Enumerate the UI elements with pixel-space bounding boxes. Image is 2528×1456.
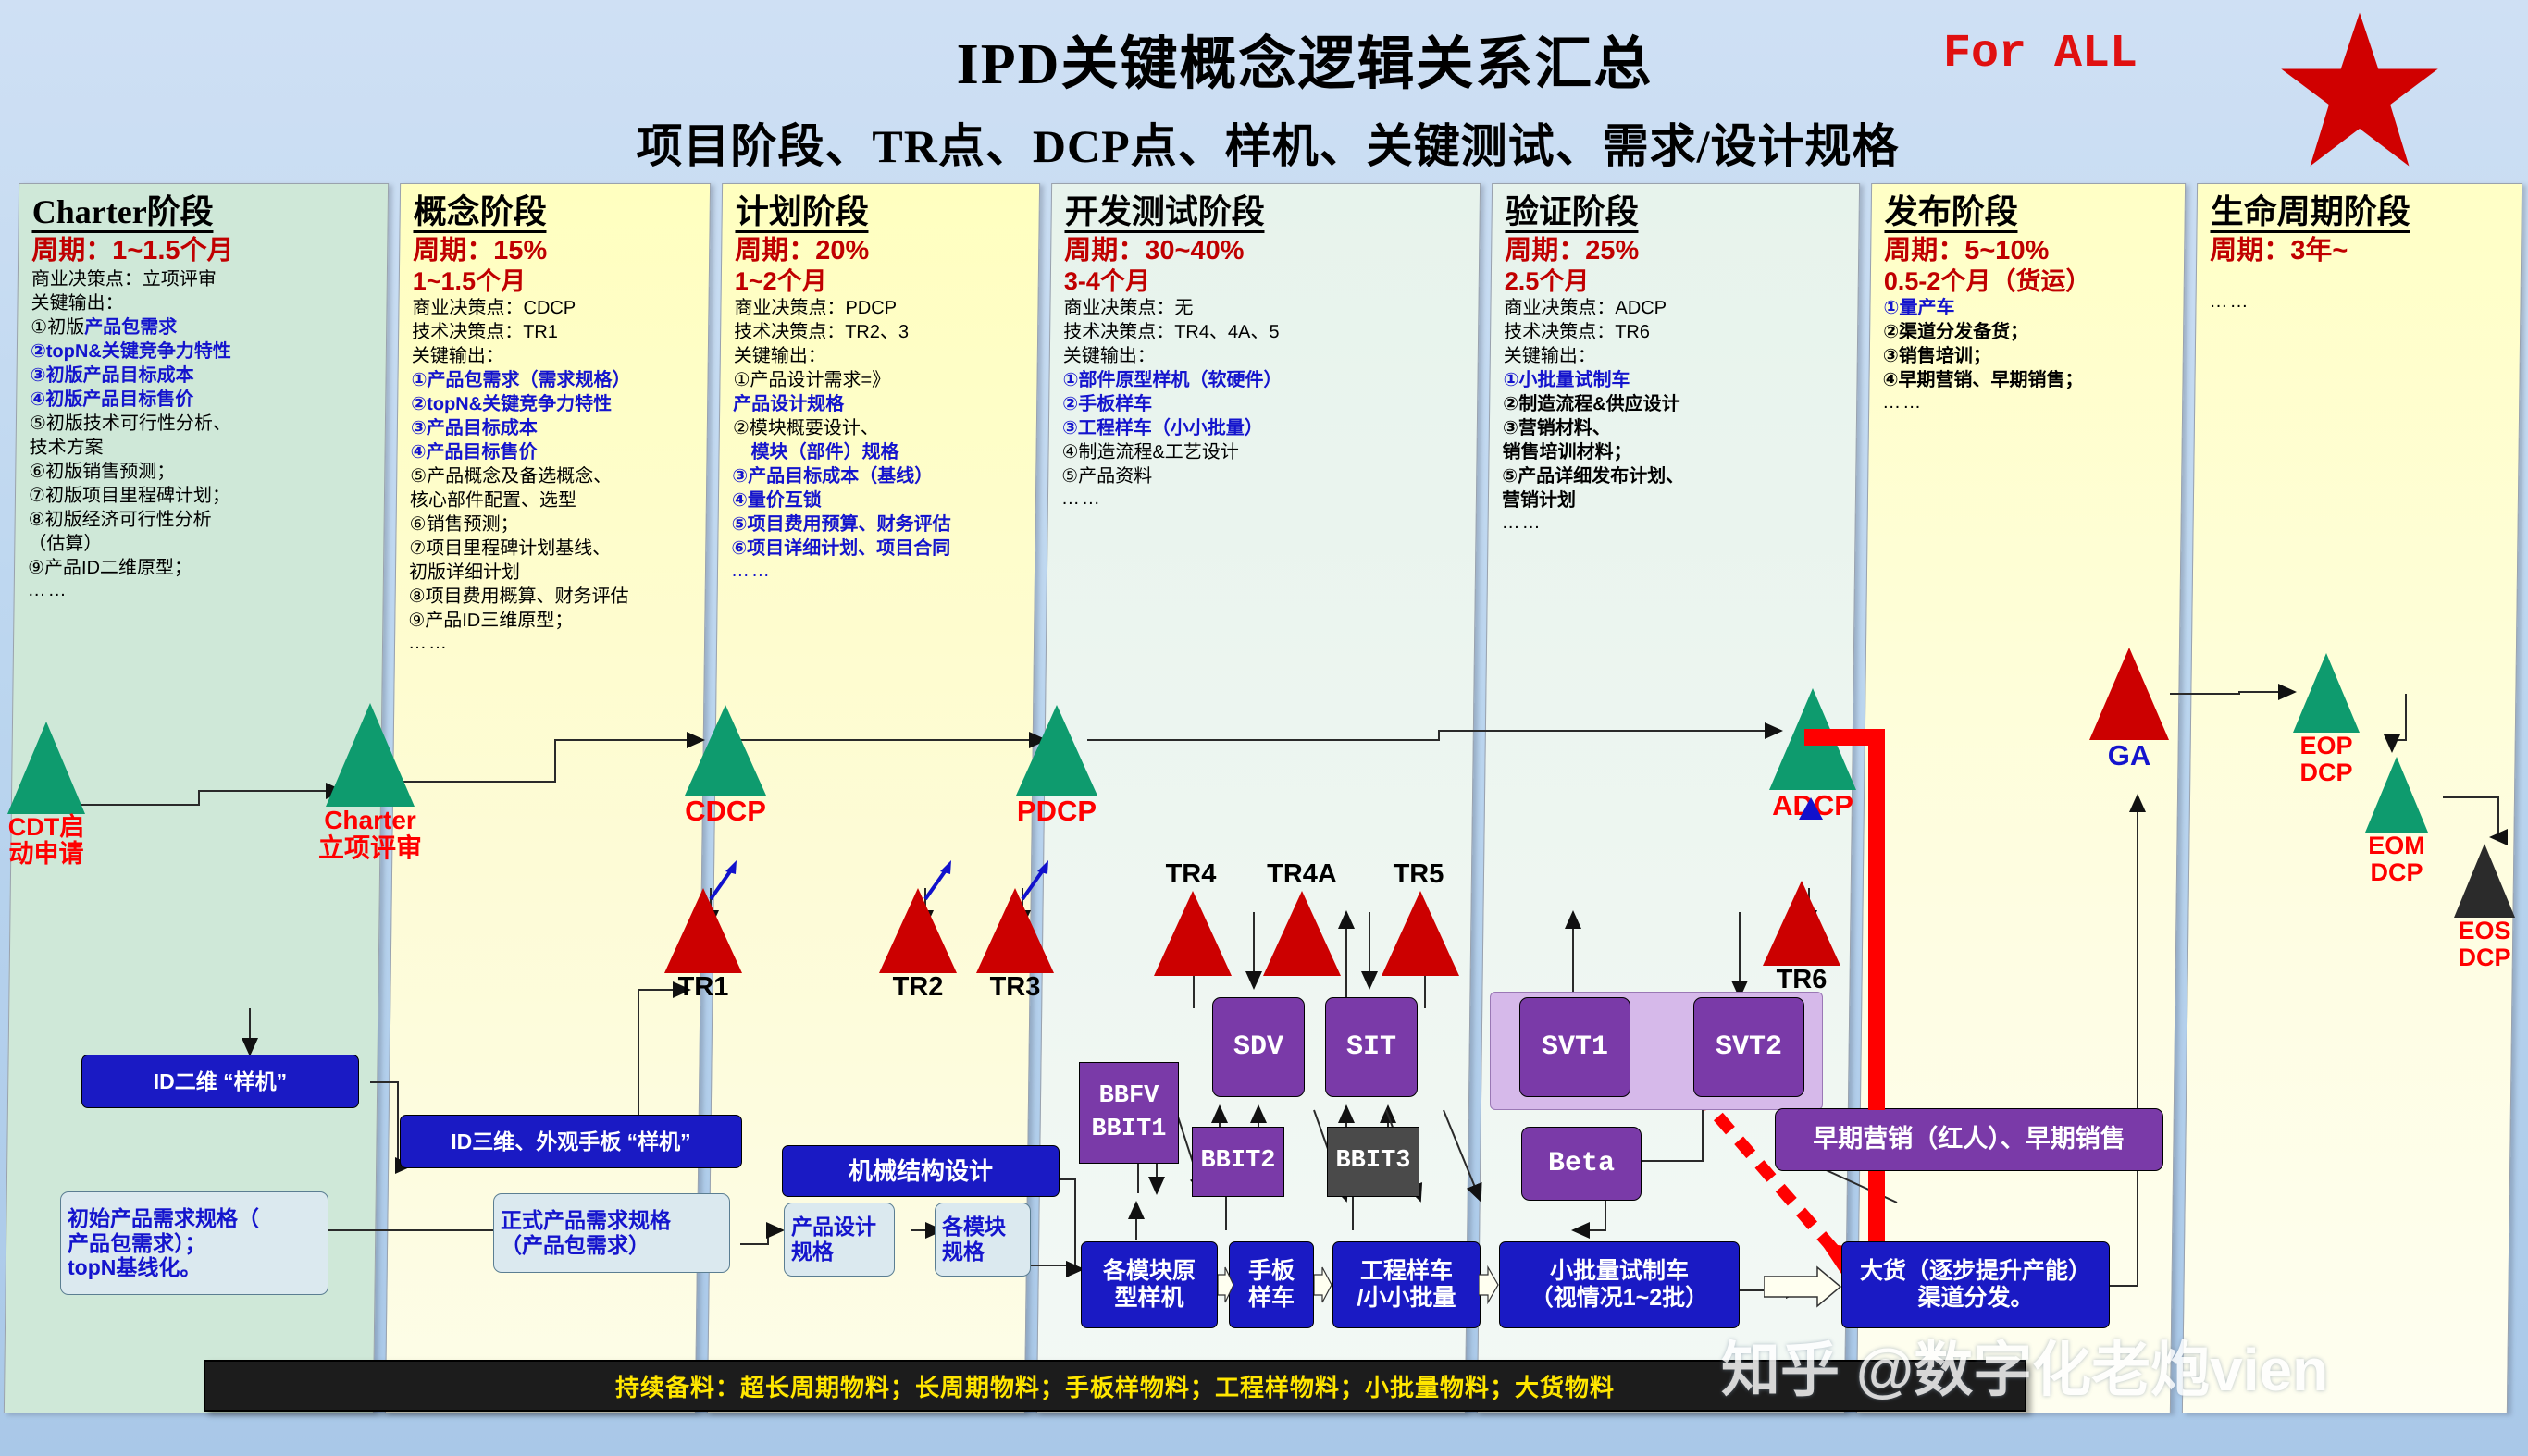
red-triangle-icon xyxy=(1763,881,1840,966)
spec-box-module-spec[interactable]: 各模块 规格 xyxy=(935,1203,1031,1277)
red-triangle-icon xyxy=(2089,648,2169,740)
milestone-cdt[interactable]: CDT启 动申请 xyxy=(7,722,97,868)
artifact-box-mech[interactable]: 机械结构设计 xyxy=(782,1145,1060,1197)
milestone-label: Charter 立项评审 xyxy=(291,807,449,862)
test-box-bbit2[interactable]: BBIT2 xyxy=(1192,1127,1284,1197)
tr-point-tr4[interactable]: TR4 xyxy=(1154,860,1235,976)
artifact-box-handboard[interactable]: 手板 样车 xyxy=(1229,1241,1314,1328)
artifact-box-engineering-car[interactable]: 工程样车 /小小批量 xyxy=(1332,1241,1481,1328)
tr-label: TR4 xyxy=(1146,860,1235,889)
milestone-eos[interactable]: EOS DCP xyxy=(2454,844,2526,971)
tr-label: TR6 xyxy=(1757,966,1846,994)
milestone-label: EOP DCP xyxy=(2280,733,2373,786)
milestone-charter[interactable]: Charter 立项评审 xyxy=(326,703,449,862)
green-triangle-icon xyxy=(326,703,415,807)
artifact-box-id2d[interactable]: ID二维 “样机” xyxy=(81,1055,359,1108)
test-box-beta[interactable]: Beta xyxy=(1521,1127,1642,1201)
milestone-label: EOM DCP xyxy=(2352,833,2441,886)
artifact-box-proto-modules[interactable]: 各模块原 型样机 xyxy=(1081,1241,1218,1328)
test-box-sdv[interactable]: SDV xyxy=(1212,997,1305,1097)
spec-box-formal-requirements[interactable]: 正式产品需求规格 （产品包需求） xyxy=(493,1193,730,1273)
tr-label: TR4A xyxy=(1254,860,1350,889)
red-triangle-icon xyxy=(1154,891,1232,976)
watermark: 知乎 @数字化老炮vien xyxy=(1721,1323,2328,1408)
milestone-eop[interactable]: EOP DCP xyxy=(2293,653,2373,786)
artifact-box-small-batch[interactable]: 小批量试制车 （视情况1~2批） xyxy=(1499,1241,1740,1328)
spec-box-initial-requirements[interactable]: 初始产品需求规格（ 产品包需求）； topN基线化。 xyxy=(60,1191,328,1295)
red-flow-arrow-stem xyxy=(1868,729,1885,1110)
red-flow-arrow-top xyxy=(1804,729,1884,746)
milestone-cdcp[interactable]: CDCP xyxy=(685,705,776,826)
milestone-label: CDT启 动申请 xyxy=(0,814,97,868)
tr-label: TR2 xyxy=(874,973,962,1002)
flow-arrow-engcar-to-smallbatch xyxy=(1479,1265,1499,1309)
spec-box-product-design-spec[interactable]: 产品设计 规格 xyxy=(784,1203,895,1277)
flow-arrow-proto-to-handboard xyxy=(1218,1265,1234,1309)
tr-point-tr6[interactable]: TR6 xyxy=(1763,881,1846,994)
early-marketing-box[interactable]: 早期营销（红人）、早期销售 xyxy=(1775,1108,2163,1171)
red-triangle-icon xyxy=(1382,891,1459,976)
milestone-label: GA xyxy=(2078,740,2180,771)
artifact-box-bulk[interactable]: 大货（逐步提升产能） 渠道分发。 xyxy=(1841,1241,2110,1328)
milestone-ga[interactable]: GA xyxy=(2089,648,2180,771)
test-box-bbfv-bbit1[interactable]: BBFV BBIT1 xyxy=(1079,1062,1179,1164)
milestone-pdcp[interactable]: PDCP xyxy=(1016,705,1108,826)
milestone-eom[interactable]: EOM DCP xyxy=(2365,757,2441,886)
tr-label: TR5 xyxy=(1374,860,1463,889)
tr-label: TR1 xyxy=(659,973,748,1002)
green-triangle-icon xyxy=(2293,653,2360,733)
green-triangle-icon xyxy=(2365,757,2428,833)
tr-label: TR3 xyxy=(971,973,1060,1002)
green-triangle-icon xyxy=(7,722,85,814)
green-triangle-icon xyxy=(685,705,766,796)
test-box-svt2[interactable]: SVT2 xyxy=(1693,997,1804,1097)
adcp-up-arrow-icon xyxy=(1799,797,1823,820)
test-box-svt1[interactable]: SVT1 xyxy=(1519,997,1630,1097)
flow-arrow-handboard-to-engcar xyxy=(1314,1265,1332,1309)
test-box-bbit3[interactable]: BBIT3 xyxy=(1327,1127,1419,1197)
green-triangle-icon xyxy=(1016,705,1097,796)
tr-point-tr5[interactable]: TR5 xyxy=(1382,860,1463,976)
test-box-sit[interactable]: SIT xyxy=(1325,997,1418,1097)
tr2-up-arrow-icon xyxy=(920,858,957,906)
black-triangle-icon xyxy=(2454,844,2515,918)
artifact-box-id3d[interactable]: ID三维、外观手板 “样机” xyxy=(400,1115,742,1168)
tr-point-tr4a[interactable]: TR4A xyxy=(1263,860,1350,976)
milestone-label: EOS DCP xyxy=(2443,918,2526,971)
tr1-up-arrow-icon xyxy=(705,858,742,906)
flow-arrow-smallbatch-to-bulk xyxy=(1764,1265,1841,1313)
milestone-label: CDCP xyxy=(675,796,776,826)
diagram-canvas: IPD关键概念逻辑关系汇总 For ALL 项目阶段、TR点、DCP点、样机、关… xyxy=(0,0,2528,1456)
red-triangle-icon xyxy=(1263,891,1341,976)
tr3-up-arrow-icon xyxy=(1017,858,1054,906)
milestone-label: PDCP xyxy=(1006,796,1108,826)
